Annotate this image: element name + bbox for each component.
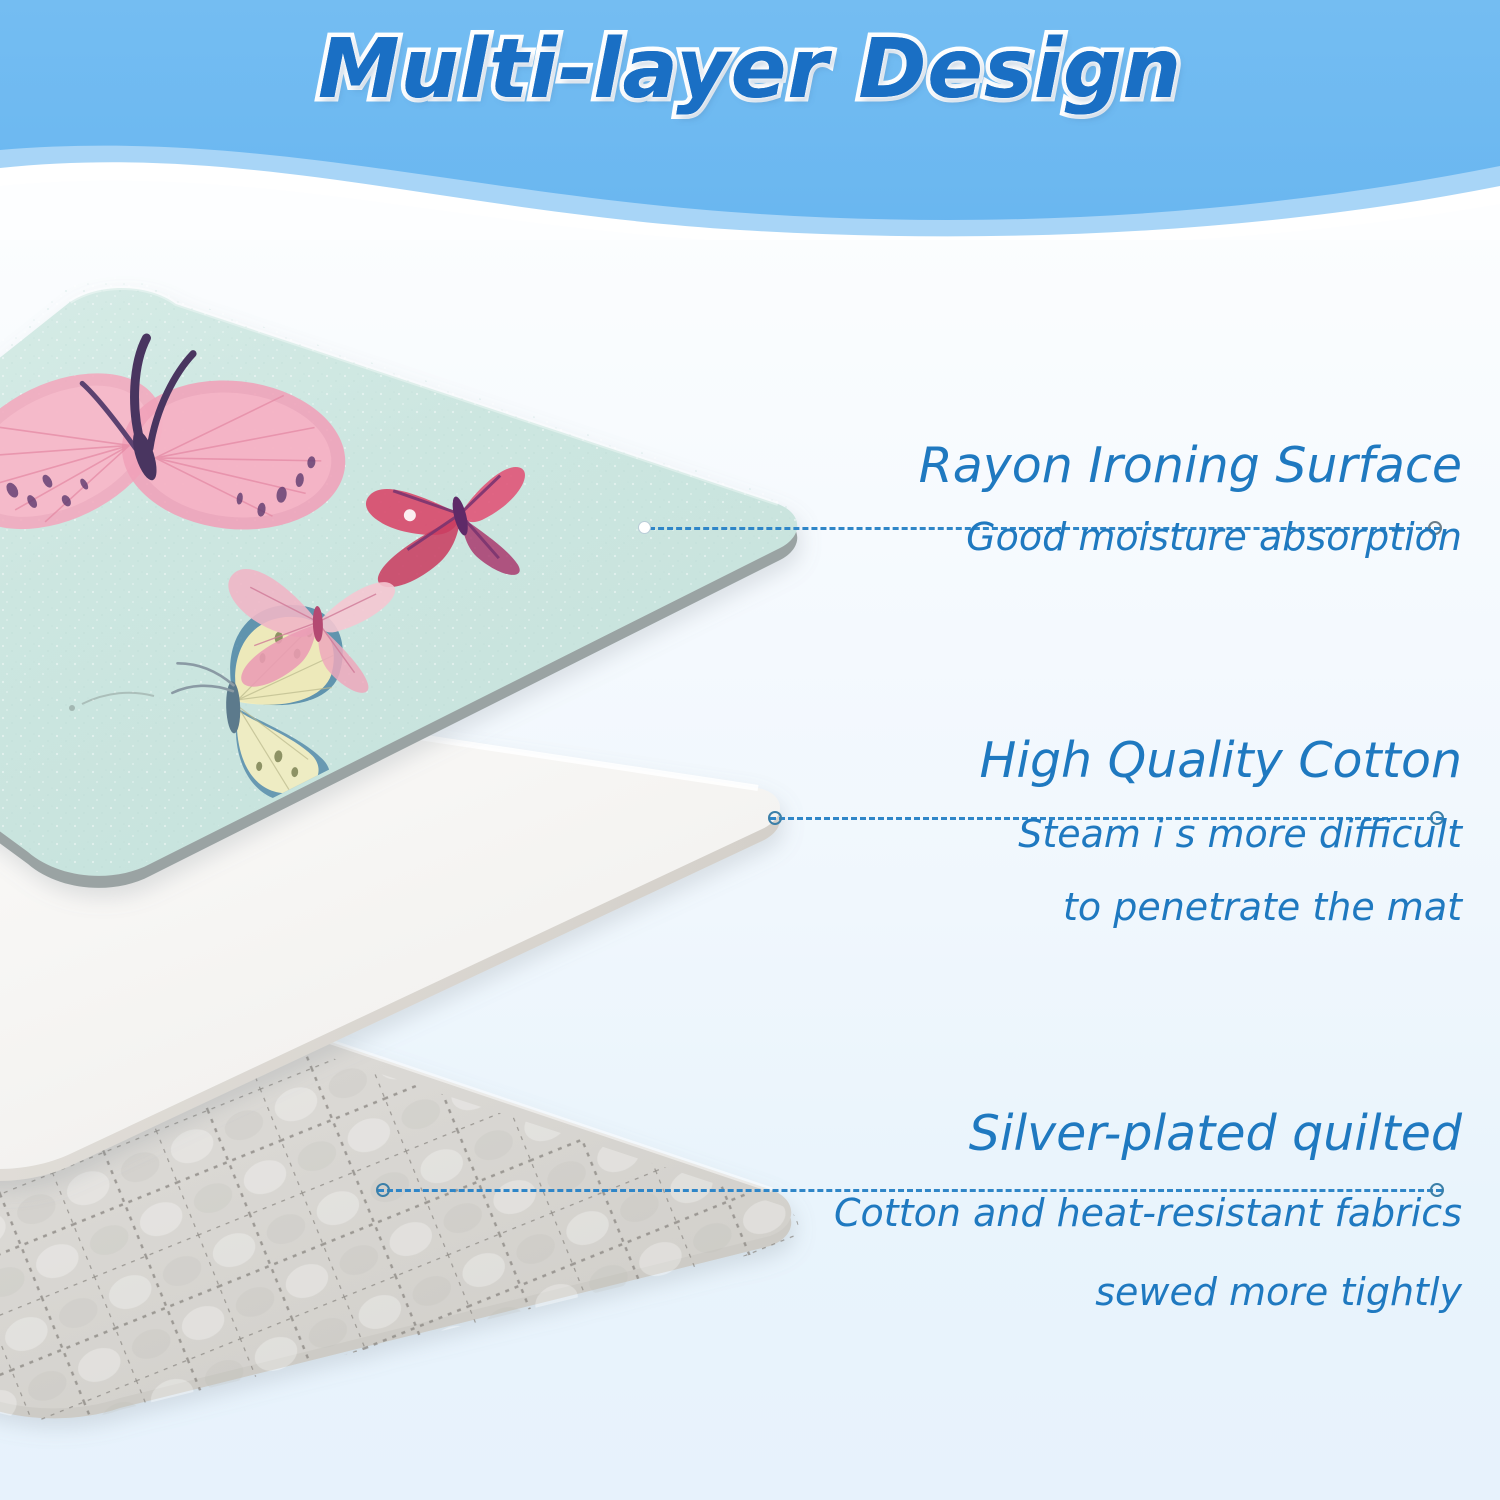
- callout-rayon-ironing-surface: Rayon Ironing Surface Good moisture abso…: [862, 440, 1462, 562]
- callout-subtitle-line: sewed more tightly: [760, 1268, 1462, 1317]
- leader-anchor-node: [768, 811, 782, 825]
- header-banner: Multi-layer Design Multi-layer Design: [0, 0, 1500, 240]
- callout-silver-plated-quilted: Silver-plated quilted Cotton and heat-re…: [760, 1108, 1462, 1317]
- leader-anchor-node: [376, 1183, 390, 1197]
- callout-subtitle-line: Cotton and heat-resistant fabrics: [760, 1189, 1462, 1238]
- product-layer-stack: [0, 300, 820, 1360]
- callout-title: Silver-plated quilted: [760, 1108, 1462, 1159]
- callout-subtitle-line: to penetrate the mat: [800, 883, 1462, 932]
- leader-anchor-node: [638, 521, 651, 534]
- infographic-canvas: Multi-layer Design Multi-layer Design: [0, 0, 1500, 1500]
- callout-high-quality-cotton: High Quality Cotton Steam i s more diffi…: [800, 735, 1462, 932]
- callout-title: High Quality Cotton: [800, 735, 1462, 786]
- callout-subtitle-line: Good moisture absorption: [862, 513, 1462, 562]
- callout-title: Rayon Ironing Surface: [862, 440, 1462, 491]
- header-wave-graphic: [0, 0, 1500, 240]
- callout-subtitle-line: Steam i s more difficult: [800, 810, 1462, 859]
